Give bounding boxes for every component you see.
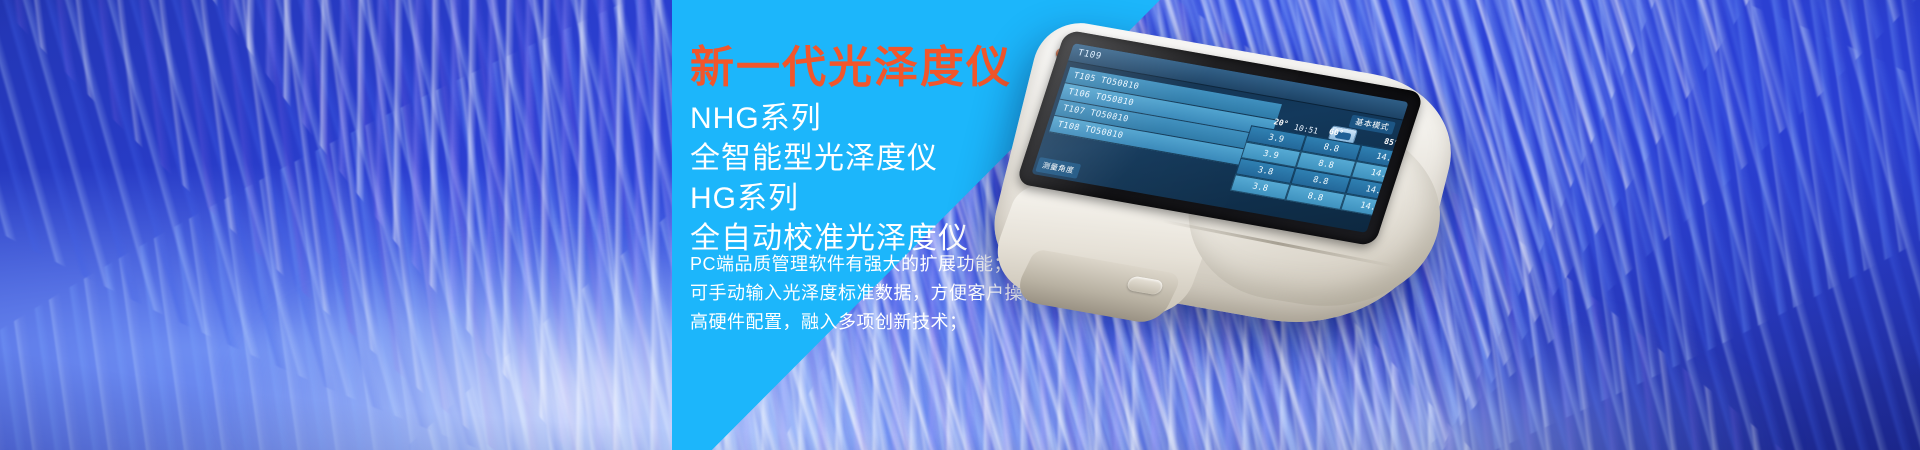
product-banner: 新一代光泽度仪 NHG系列 全智能型光泽度仪 HG系列 全自动校准光泽度仪 PC… bbox=[0, 0, 1920, 450]
screen-angle-button[interactable]: 测量角度 bbox=[1035, 157, 1081, 179]
product-device-image: 3nh T109 基本模式 10:51 2019-05-08 T105 TO50… bbox=[860, 10, 1500, 430]
